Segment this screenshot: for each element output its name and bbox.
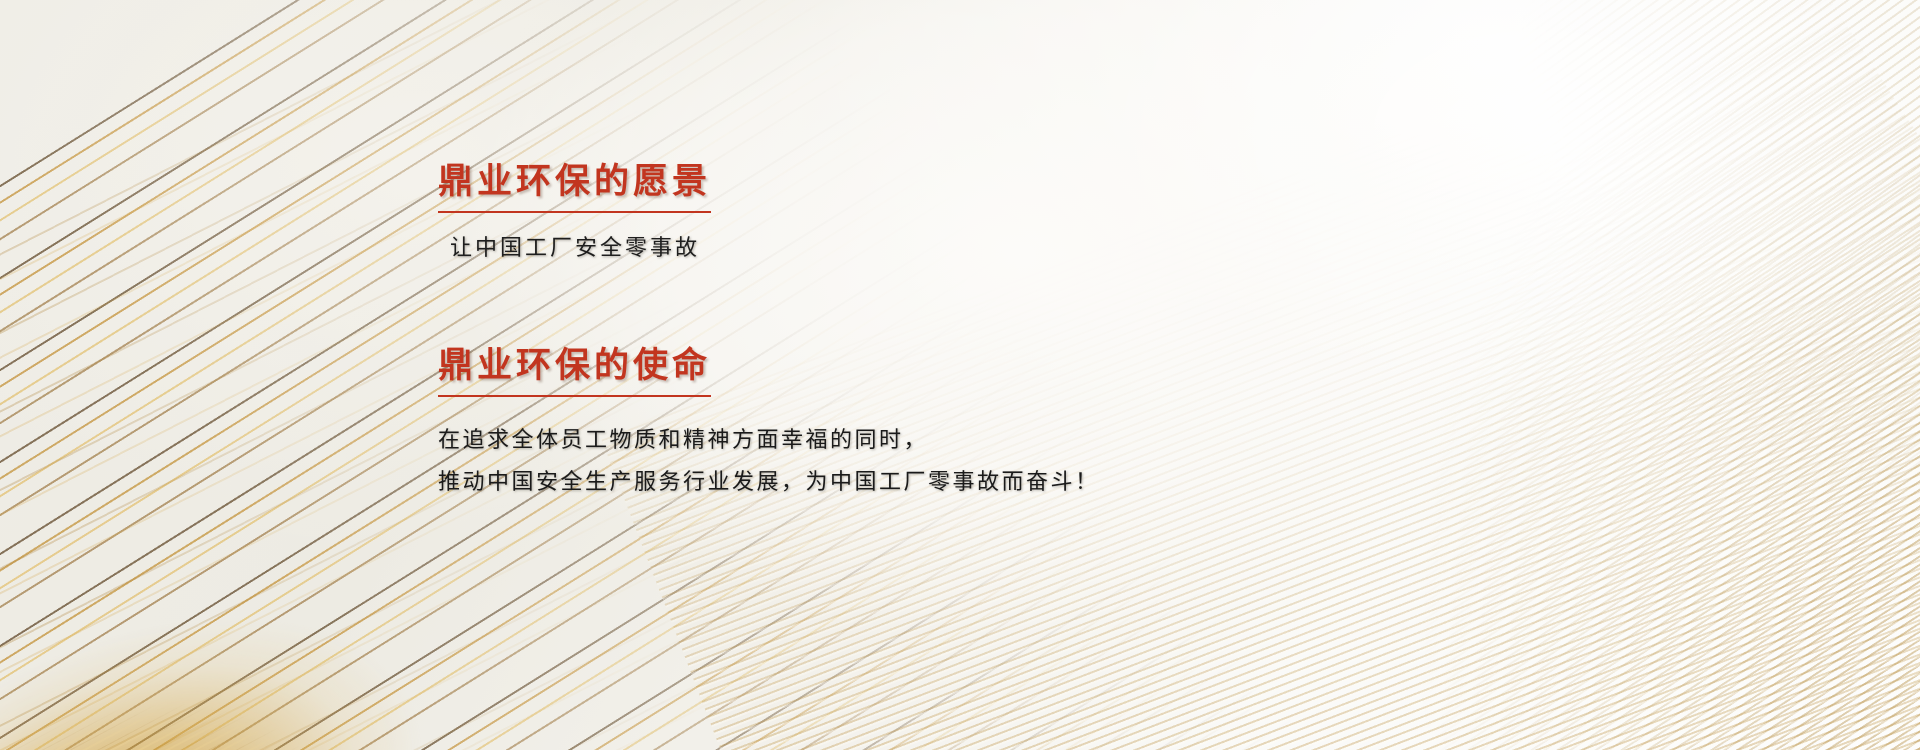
banner-content: 鼎业环保的愿景 让中国工厂安全零事故 鼎业环保的使命 在追求全体员工物质和精神方… bbox=[438, 160, 1438, 504]
vision-subtitle: 让中国工厂安全零事故 bbox=[450, 230, 1438, 262]
mission-body: 在追求全体员工物质和精神方面幸福的同时， 推动中国安全生产服务行业发展，为中国工… bbox=[438, 419, 1438, 505]
mission-heading: 鼎业环保的使命 bbox=[438, 344, 711, 397]
vision-mission-banner: 鼎业环保的愿景 让中国工厂安全零事故 鼎业环保的使命 在追求全体员工物质和精神方… bbox=[0, 0, 1920, 750]
mission-body-line: 推动中国安全生产服务行业发展，为中国工厂零事故而奋斗！ bbox=[438, 461, 1438, 504]
mission-body-line: 在追求全体员工物质和精神方面幸福的同时， bbox=[438, 419, 1438, 462]
vision-heading: 鼎业环保的愿景 bbox=[438, 160, 711, 213]
vision-block: 鼎业环保的愿景 让中国工厂安全零事故 bbox=[438, 160, 1438, 262]
mission-block: 鼎业环保的使命 在追求全体员工物质和精神方面幸福的同时， 推动中国安全生产服务行… bbox=[438, 344, 1438, 505]
